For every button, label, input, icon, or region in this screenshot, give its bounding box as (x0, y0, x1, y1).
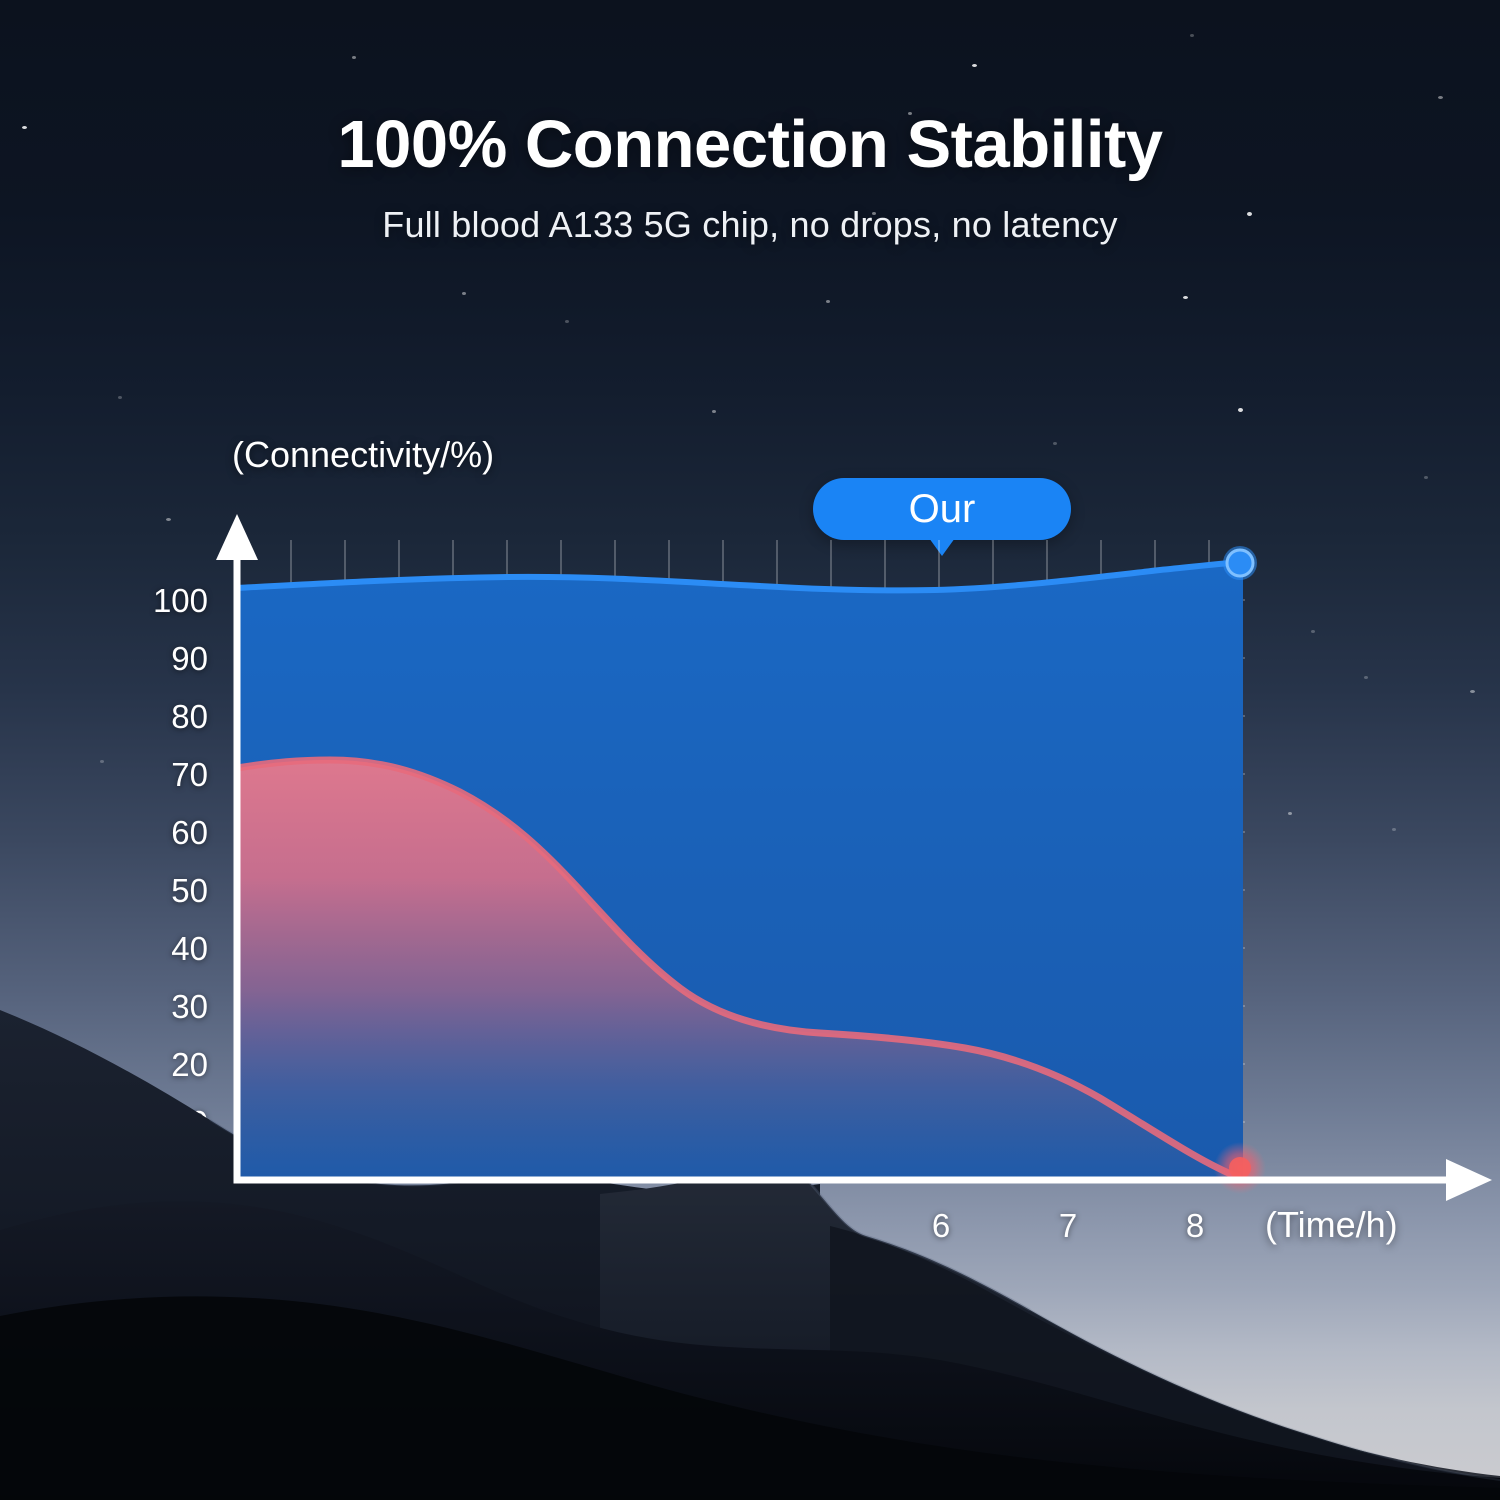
series-endpoint-our (1223, 546, 1257, 580)
x-axis-arrow (1446, 1159, 1492, 1201)
series-endpoint-other (1214, 1142, 1266, 1194)
y-axis-arrow (216, 514, 258, 560)
page-subtitle: Full blood A133 5G chip, no drops, no la… (0, 204, 1500, 246)
headline-block: 100% Connection Stability Full blood A13… (0, 108, 1500, 246)
page-title: 100% Connection Stability (0, 108, 1500, 182)
promo-graphic: 100% Connection Stability Full blood A13… (0, 0, 1500, 1500)
